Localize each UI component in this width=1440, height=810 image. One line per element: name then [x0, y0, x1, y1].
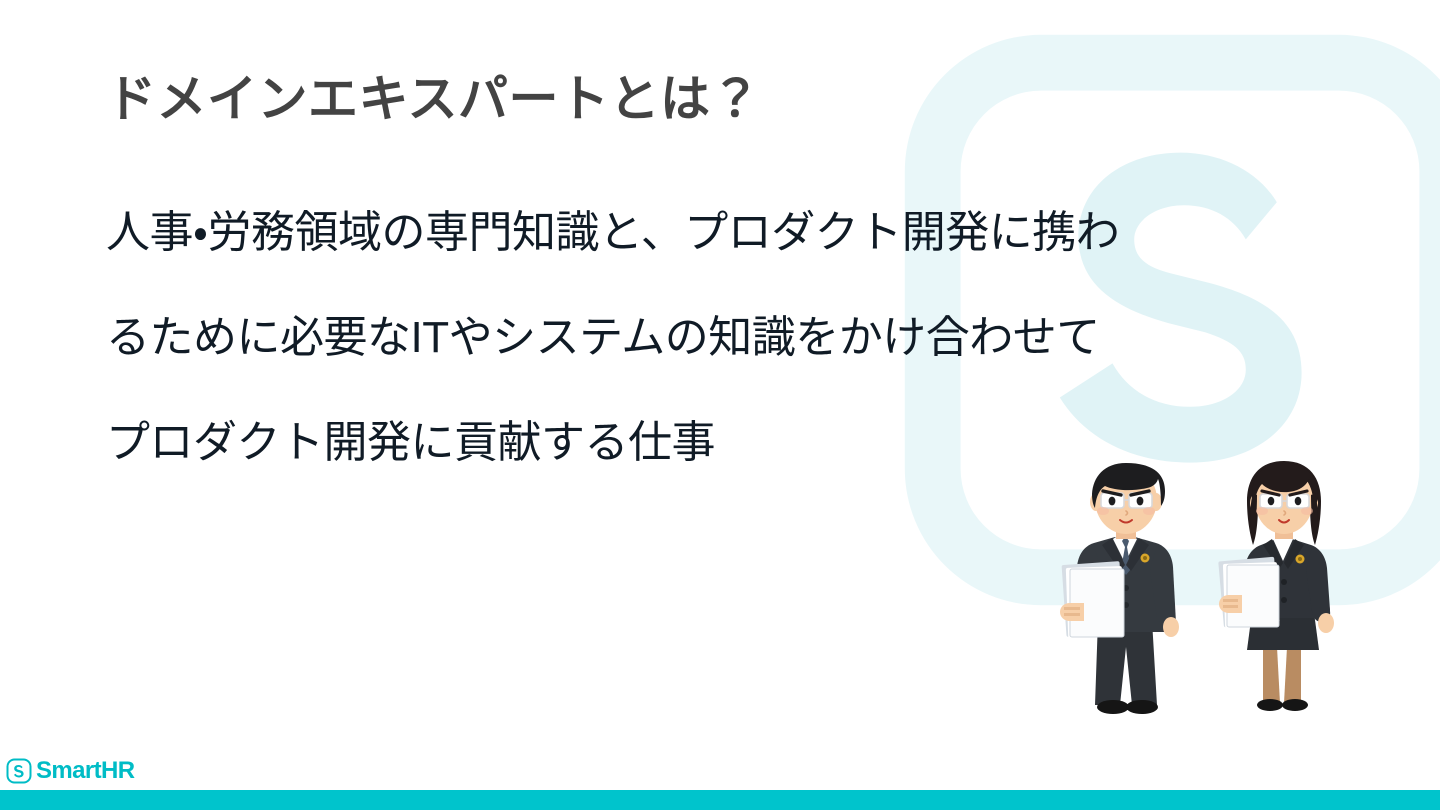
smarthr-brand-logo: SmartHR: [6, 756, 135, 786]
clipboard-male: [1062, 561, 1125, 638]
smarthr-wordmark: SmartHR: [36, 759, 135, 783]
body-line-1: 人事・労務領域の専門知識と、プロダクト開発に携わ: [106, 180, 1246, 285]
smarthr-logo-icon: [6, 758, 32, 784]
business-people-illustration: [1050, 455, 1400, 745]
clipboard-female: [1218, 557, 1280, 628]
slide-body: 人事・労務領域の専門知識と、プロダクト開発に携わ るために必要なITやシステムの…: [106, 180, 1246, 495]
slide-title: ドメインエキスパートとは？: [106, 72, 761, 127]
body-line-2: るために必要なITやシステムの知識をかけ合わせて: [106, 285, 1246, 390]
male-figure: [1060, 463, 1179, 714]
footer-accent-bar: [0, 790, 1440, 810]
slide-canvas: ドメインエキスパートとは？ 人事・労務領域の専門知識と、プロダクト開発に携わ る…: [0, 0, 1440, 810]
female-figure: [1218, 461, 1334, 711]
